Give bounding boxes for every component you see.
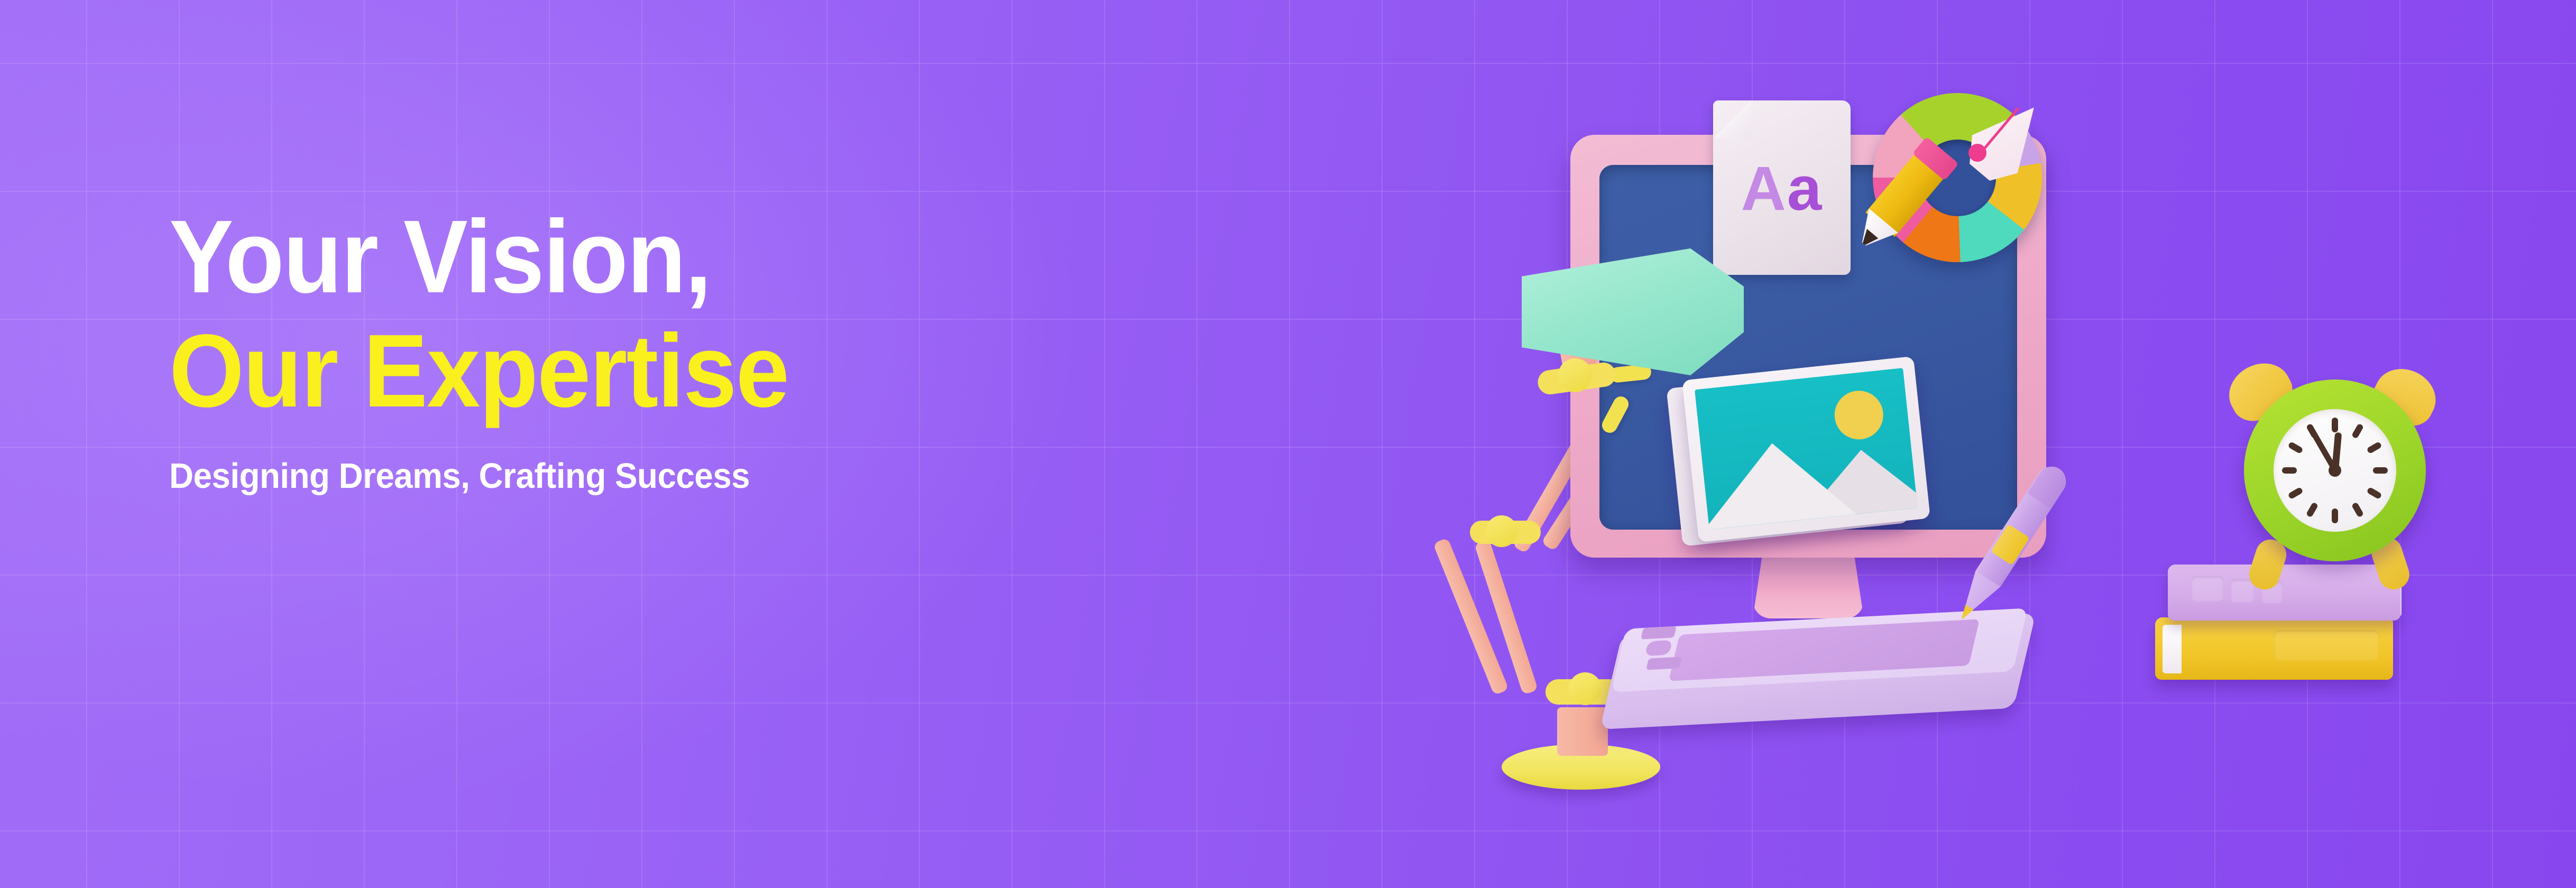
photo-image xyxy=(1695,368,1918,530)
clock-tick xyxy=(2332,508,2338,523)
clock-tick xyxy=(2287,487,2303,499)
tablet-button-1 xyxy=(1641,626,1677,639)
letter-a-uppercase: A xyxy=(1741,154,1787,224)
document-aa-label: Aa xyxy=(1713,158,1851,220)
photo-sun-icon xyxy=(1832,388,1885,442)
lamp-arm-lower-b xyxy=(1474,539,1538,695)
clock-tick xyxy=(2332,418,2338,432)
lamp-shade xyxy=(1522,248,1744,375)
clock-tick xyxy=(2306,423,2319,439)
lamp-post xyxy=(1557,707,1608,756)
book-bottom-pages xyxy=(2163,625,2182,673)
clock-tick xyxy=(2366,441,2382,454)
headline-line-1: Your Vision, xyxy=(169,206,1202,308)
headline-line-2: Our Expertise xyxy=(169,320,1202,422)
lamp-joint-base-ball xyxy=(1569,672,1602,705)
letter-a-lowercase: a xyxy=(1787,154,1823,224)
clock-tick xyxy=(2366,487,2382,499)
page-title: Your Vision, Our Expertise xyxy=(169,206,1202,422)
book-top-label-2 xyxy=(2230,579,2255,603)
clock-tick xyxy=(2282,467,2297,474)
lamp-joint-top-ball xyxy=(1558,358,1592,392)
book-top-label-1 xyxy=(2191,576,2224,602)
clock-tick xyxy=(2351,502,2364,517)
clock-tick xyxy=(2373,467,2388,474)
photo-mountain-front xyxy=(1696,436,1856,530)
headline-block: Your Vision, Our Expertise Designing Dre… xyxy=(169,206,1280,496)
lamp-joint-mid-ball xyxy=(1486,515,1517,547)
hero-banner: Your Vision, Our Expertise Designing Dre… xyxy=(0,0,2576,888)
hero-illustration: Aa xyxy=(1311,0,2576,888)
tablet-button-2 xyxy=(1646,656,1682,670)
subheadline: Designing Dreams, Crafting Success xyxy=(169,456,1224,496)
book-bottom-label xyxy=(2274,630,2379,661)
pen-nib-hole xyxy=(1968,144,1986,162)
clock-tick xyxy=(2306,502,2319,517)
clock-tick xyxy=(2287,441,2303,454)
photo-card-front xyxy=(1682,356,1930,542)
clock-tick xyxy=(2351,423,2364,439)
clock-face xyxy=(2274,409,2396,532)
